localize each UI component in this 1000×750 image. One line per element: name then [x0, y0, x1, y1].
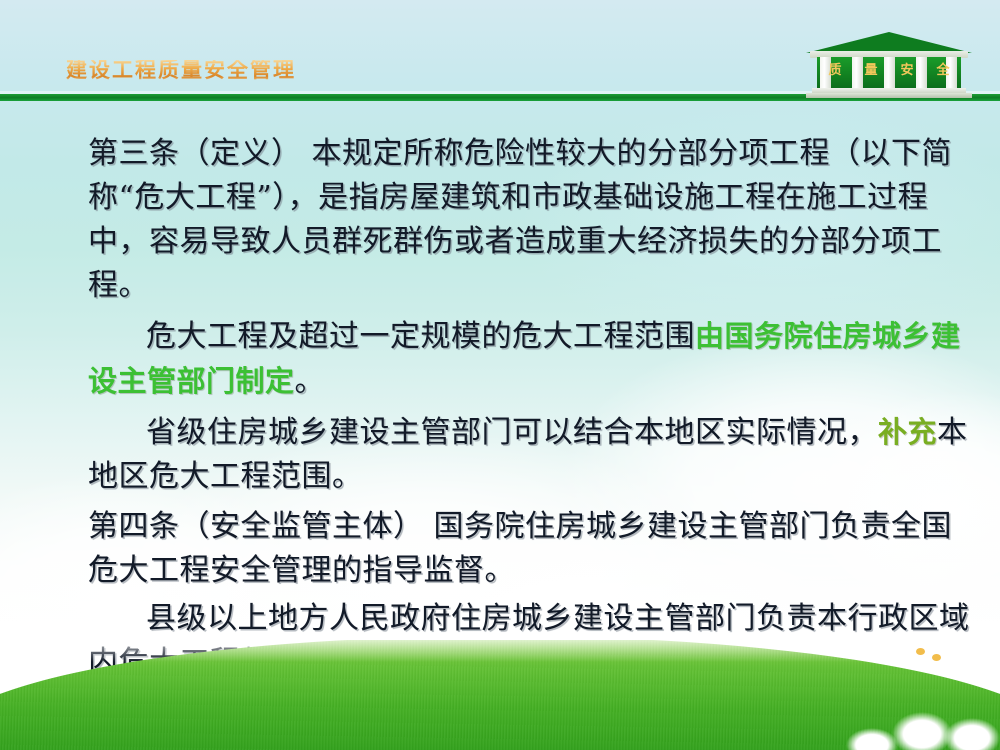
temple-roof-icon — [806, 32, 972, 53]
footer-grass-decoration — [0, 640, 1000, 750]
paragraph-scope-defined-by-state-council: 危大工程及超过一定规模的危大工程范围由国务院住房城乡建设主管部门制定。 — [0, 314, 1000, 404]
logo-char-an: 安 — [900, 64, 913, 77]
flower-icon — [932, 654, 941, 661]
text-run: 。 — [295, 364, 326, 399]
paragraph-article-3: 第三条（定义） 本规定所称危险性较大的分部分项工程（以下简称“危大工程”），是指… — [0, 132, 1000, 308]
text-run: 危大工程及超过一定规模的危大工程范围 — [146, 319, 695, 354]
slide-header: 建设工程质量安全管理 质 量 安 全 — [0, 0, 1000, 101]
cloud-puff — [892, 712, 952, 750]
quality-safety-temple-logo: 质 量 安 全 — [806, 32, 972, 98]
cloud-puff — [944, 718, 1000, 750]
flower-icon — [916, 648, 925, 655]
grass-top-fade — [0, 640, 1000, 662]
slide: 建设工程质量安全管理 质 量 安 全 第三条（定义） 本规定所称危险性较大的分部… — [0, 0, 1000, 750]
grass-hill — [0, 640, 1000, 750]
text-run: 省级住房城乡建设主管部门可以结合本地区实际情况， — [146, 415, 878, 450]
paragraph-article-4: 第四条（安全监管主体） 国务院住房城乡建设主管部门负责全国危大工程安全管理的指导… — [0, 505, 1000, 593]
logo-char-zhi: 质 — [828, 64, 841, 77]
logo-text: 质 量 安 全 — [817, 64, 961, 77]
slide-content: 第三条（定义） 本规定所称危险性较大的分部分项工程（以下简称“危大工程”），是指… — [0, 130, 1000, 685]
text-run: 第三条（定义） 本规定所称危险性较大的分部分项工程（以下简称“危大工程”），是指… — [88, 136, 952, 303]
page-title: 建设工程质量安全管理 — [66, 60, 296, 81]
logo-char-liang: 量 — [864, 64, 877, 77]
paragraph-provincial-supplement: 省级住房城乡建设主管部门可以结合本地区实际情况，补充本地区危大工程范围。 — [0, 410, 1000, 499]
text-run: 第四条（安全监管主体） 国务院住房城乡建设主管部门负责全国危大工程安全管理的指导… — [88, 509, 952, 588]
highlight-olive-supplement: 补充 — [878, 415, 937, 449]
logo-char-quan: 全 — [936, 64, 949, 77]
temple-base-lower — [806, 93, 972, 98]
